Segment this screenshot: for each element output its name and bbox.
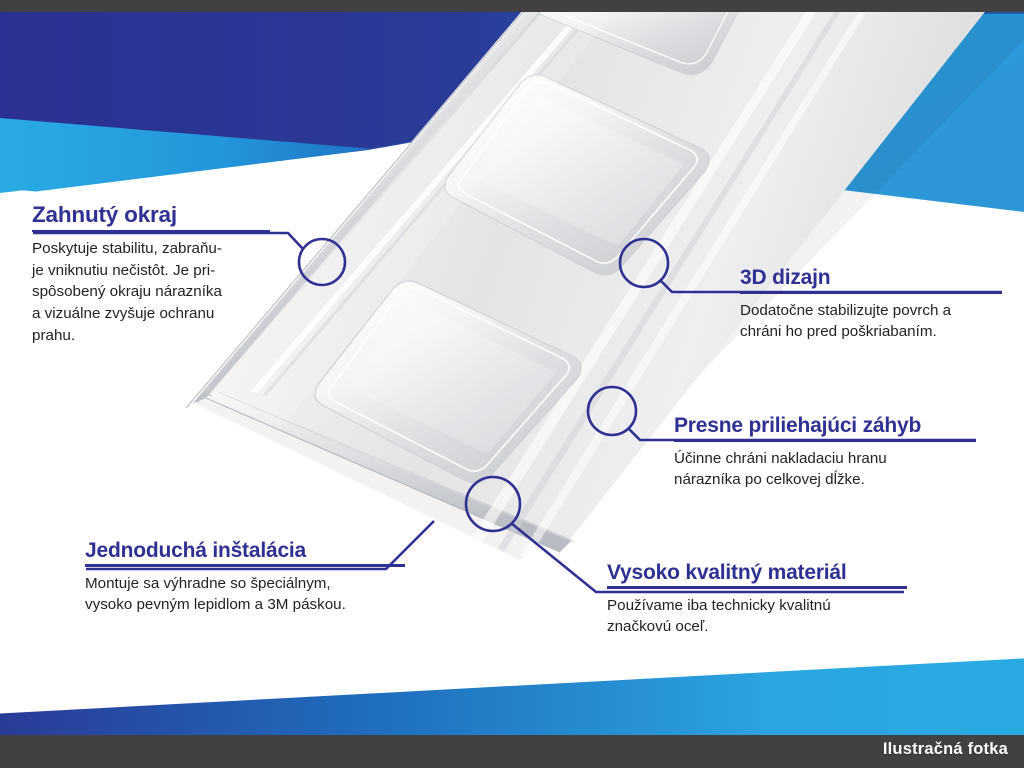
callout-body: Montuje sa výhradne so špeciálnym, vysok… xyxy=(85,573,405,616)
callout-rule xyxy=(32,230,270,233)
callout-rule xyxy=(607,586,907,589)
callout-rule xyxy=(674,439,976,442)
callout-rule xyxy=(740,291,1002,294)
background-artwork xyxy=(0,0,1024,768)
callout-zahnuty-okraj: Zahnutý okraj Poskytuje stabilitu, zabra… xyxy=(32,203,270,346)
callout-title: Vysoko kvalitný materiál xyxy=(607,561,907,584)
callout-title: 3D dizajn xyxy=(740,266,1002,289)
callout-body: Používame iba technicky kvalitnú značkov… xyxy=(607,595,907,638)
callout-presne-priliehajuci-zahyb: Presne priliehajúci záhyb Účinne chráni … xyxy=(674,414,976,491)
callout-title: Zahnutý okraj xyxy=(32,203,270,228)
callout-body: Účinne chráni nakladaciu hranu nárazníka… xyxy=(674,448,976,491)
top-frame-bar xyxy=(0,0,1024,12)
illustrative-photo-label: Ilustračná fotka xyxy=(883,740,1008,759)
callout-title: Jednoduchá inštalácia xyxy=(85,539,405,562)
callout-title: Presne priliehajúci záhyb xyxy=(674,414,976,437)
infographic-slide: Zahnutý okraj Poskytuje stabilitu, zabra… xyxy=(0,0,1024,768)
callout-body: Poskytuje stabilitu, zabraňu- je vniknut… xyxy=(32,238,270,346)
callout-rule xyxy=(85,564,405,567)
callout-body: Dodatočne stabilizujte povrch a chráni h… xyxy=(740,300,1002,343)
callout-3d-dizajn: 3D dizajn Dodatočne stabilizujte povrch … xyxy=(740,266,1002,343)
callout-vysoko-kvalitny-material: Vysoko kvalitný materiál Používame iba t… xyxy=(607,561,907,638)
footer-bar xyxy=(0,735,1024,768)
callout-jednoducha-instalacia: Jednoduchá inštalácia Montuje sa výhradn… xyxy=(85,539,405,616)
